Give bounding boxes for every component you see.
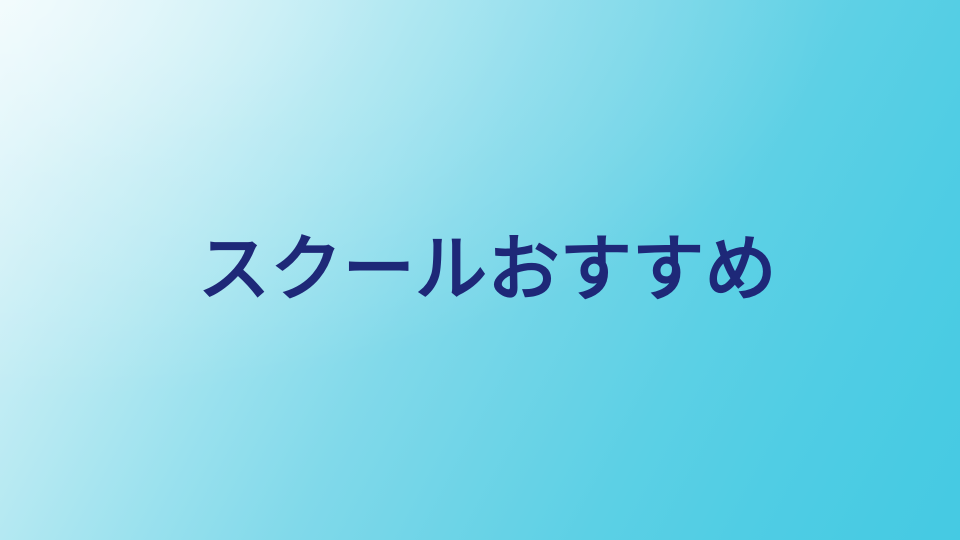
page-title: スクールおすすめ bbox=[198, 233, 777, 305]
headline-container: スクールおすすめ bbox=[0, 0, 960, 540]
title-card-slide: スクールおすすめ bbox=[0, 0, 960, 540]
